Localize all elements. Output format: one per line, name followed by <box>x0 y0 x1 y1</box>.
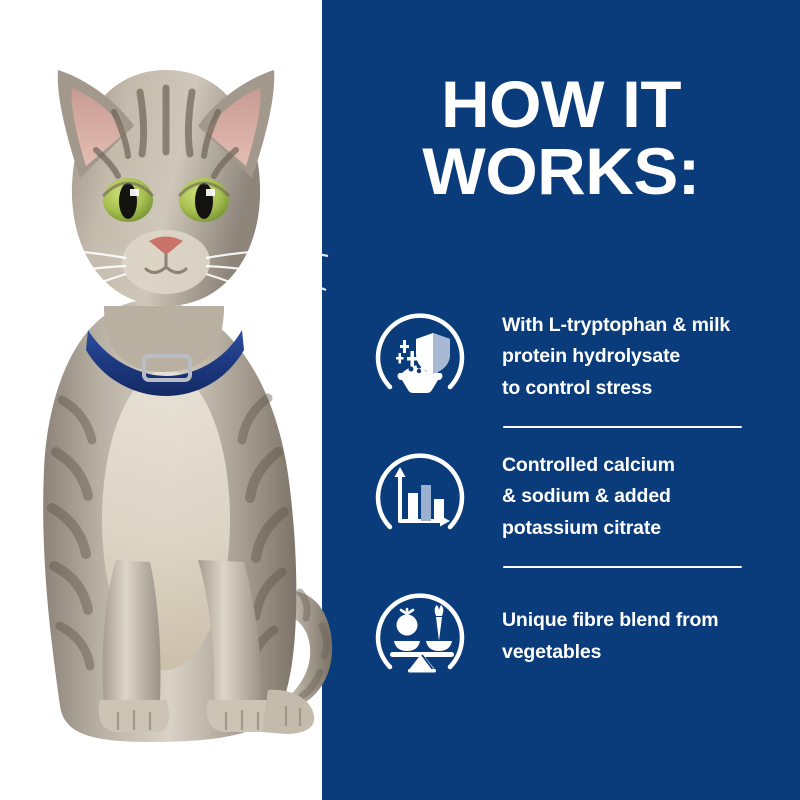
feature-text: Controlled calcium & sodium & added pota… <box>468 450 800 545</box>
feature-row: Controlled calcium & sodium & added pota… <box>322 428 800 566</box>
feature-text: Unique fibre blend from vegetables <box>468 605 800 668</box>
eye-highlight-right <box>206 189 215 196</box>
title-line-1: HOW IT <box>317 72 800 137</box>
feature-text-line: vegetables <box>502 637 800 669</box>
bar-chart-icon <box>372 449 468 545</box>
title-line-2: WORKS: <box>317 139 800 204</box>
feature-text-line: to control stress <box>502 373 800 405</box>
feature-text: With L-tryptophan & milk protein hydroly… <box>468 310 800 405</box>
feature-text-line: potassium citrate <box>502 513 800 545</box>
how-it-works-infographic: HOW IT WORKS: <box>0 0 800 800</box>
feature-row: Unique fibre blend from vegetables <box>322 568 800 706</box>
balance-scale-vegetables-icon <box>372 589 468 685</box>
food-bowl-shield-icon <box>372 309 468 405</box>
cat-pupil-right <box>195 183 213 219</box>
eye-highlight-left <box>130 189 139 196</box>
cat-pupil-left <box>119 183 137 219</box>
photo-panel <box>0 0 322 800</box>
feature-text-line: protein hydrolysate <box>502 341 800 373</box>
page-title: HOW IT WORKS: <box>322 72 800 203</box>
cat-front-leg-left <box>103 560 161 722</box>
feature-row: With L-tryptophan & milk protein hydroly… <box>322 288 800 426</box>
feature-text-line: Controlled calcium <box>502 450 800 482</box>
cat-photo <box>0 0 340 800</box>
feature-text-line: Unique fibre blend from <box>502 605 800 637</box>
feature-text-line: & sodium & added <box>502 481 800 513</box>
feature-list: With L-tryptophan & milk protein hydroly… <box>322 288 800 706</box>
feature-text-line: With L-tryptophan & milk <box>502 310 800 342</box>
cat-illustration <box>0 0 340 800</box>
